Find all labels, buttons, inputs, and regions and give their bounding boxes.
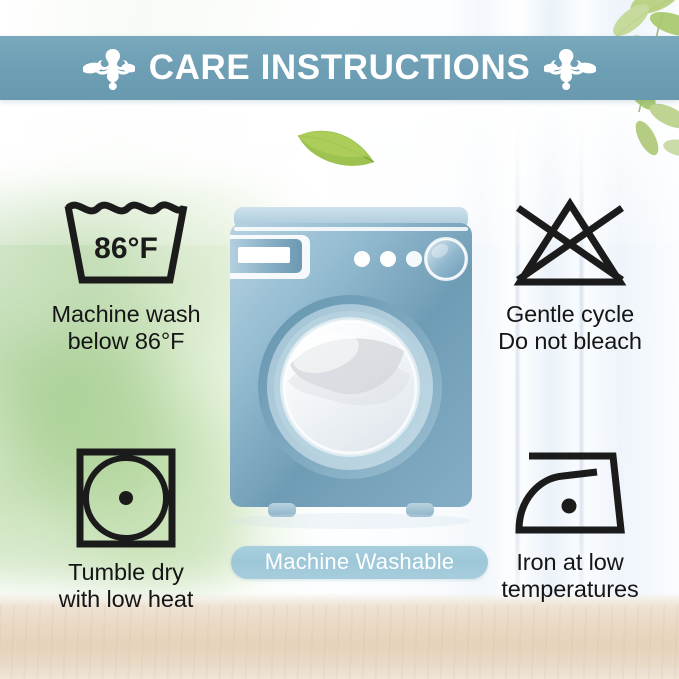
green-leaf-icon: [294, 122, 380, 174]
care-item-no-bleach: Gentle cycle Do not bleach: [470, 196, 670, 354]
table-wood-grain: [0, 605, 679, 679]
care-caption-machine-wash: Machine wash below 86°F: [51, 301, 200, 354]
care-item-tumble-dry: Tumble dry with low heat: [18, 446, 234, 612]
care-item-iron-low: Iron at low temperatures: [470, 448, 670, 602]
care-caption-no-bleach: Gentle cycle Do not bleach: [498, 301, 642, 354]
care-instructions-infographic: CARE INSTRUCTIONS: [0, 0, 679, 679]
fleur-de-lis-ornament-right-icon: [544, 45, 596, 91]
wash-tub-icon: 86°F: [62, 196, 190, 292]
care-caption-tumble-dry: Tumble dry with low heat: [59, 559, 194, 612]
svg-text:86°F: 86°F: [94, 232, 158, 265]
washing-machine-illustration: [228, 205, 474, 535]
page-title: CARE INSTRUCTIONS: [149, 50, 531, 87]
status-badge-machine-washable: Machine Washable: [231, 546, 488, 579]
status-badge-label: Machine Washable: [265, 551, 454, 575]
crossed-triangle-no-bleach-icon: [510, 196, 630, 292]
iron-low-temperature-icon: [509, 448, 631, 540]
care-item-machine-wash: 86°F Machine wash below 86°F: [18, 196, 234, 354]
tumble-dry-low-heat-icon: [74, 446, 178, 550]
fleur-de-lis-ornament-left-icon: [83, 45, 135, 91]
banner: CARE INSTRUCTIONS: [0, 36, 679, 100]
care-caption-iron-low: Iron at low temperatures: [501, 549, 638, 602]
